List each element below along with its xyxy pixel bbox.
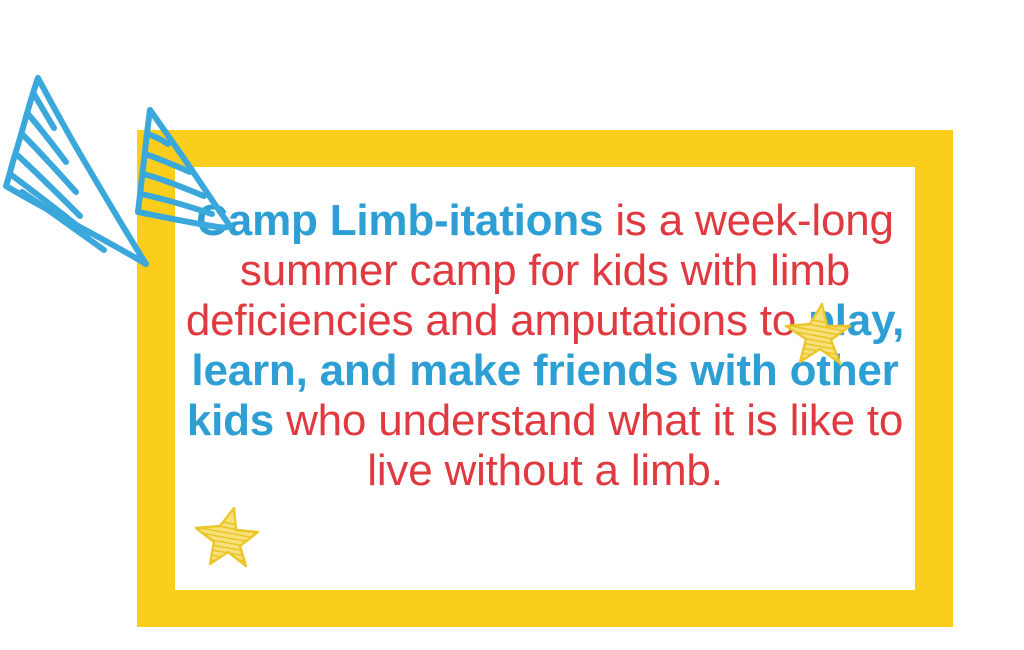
copy-segment-plain-2: who understand what it is like to live w… — [274, 396, 903, 495]
copy-segment-highlight-1: Camp Limb-itations — [196, 196, 603, 245]
body-copy: Camp Limb-itations is a week-long summer… — [175, 196, 915, 496]
poster-canvas: Camp Limb-itations is a week-long summer… — [0, 0, 1024, 650]
